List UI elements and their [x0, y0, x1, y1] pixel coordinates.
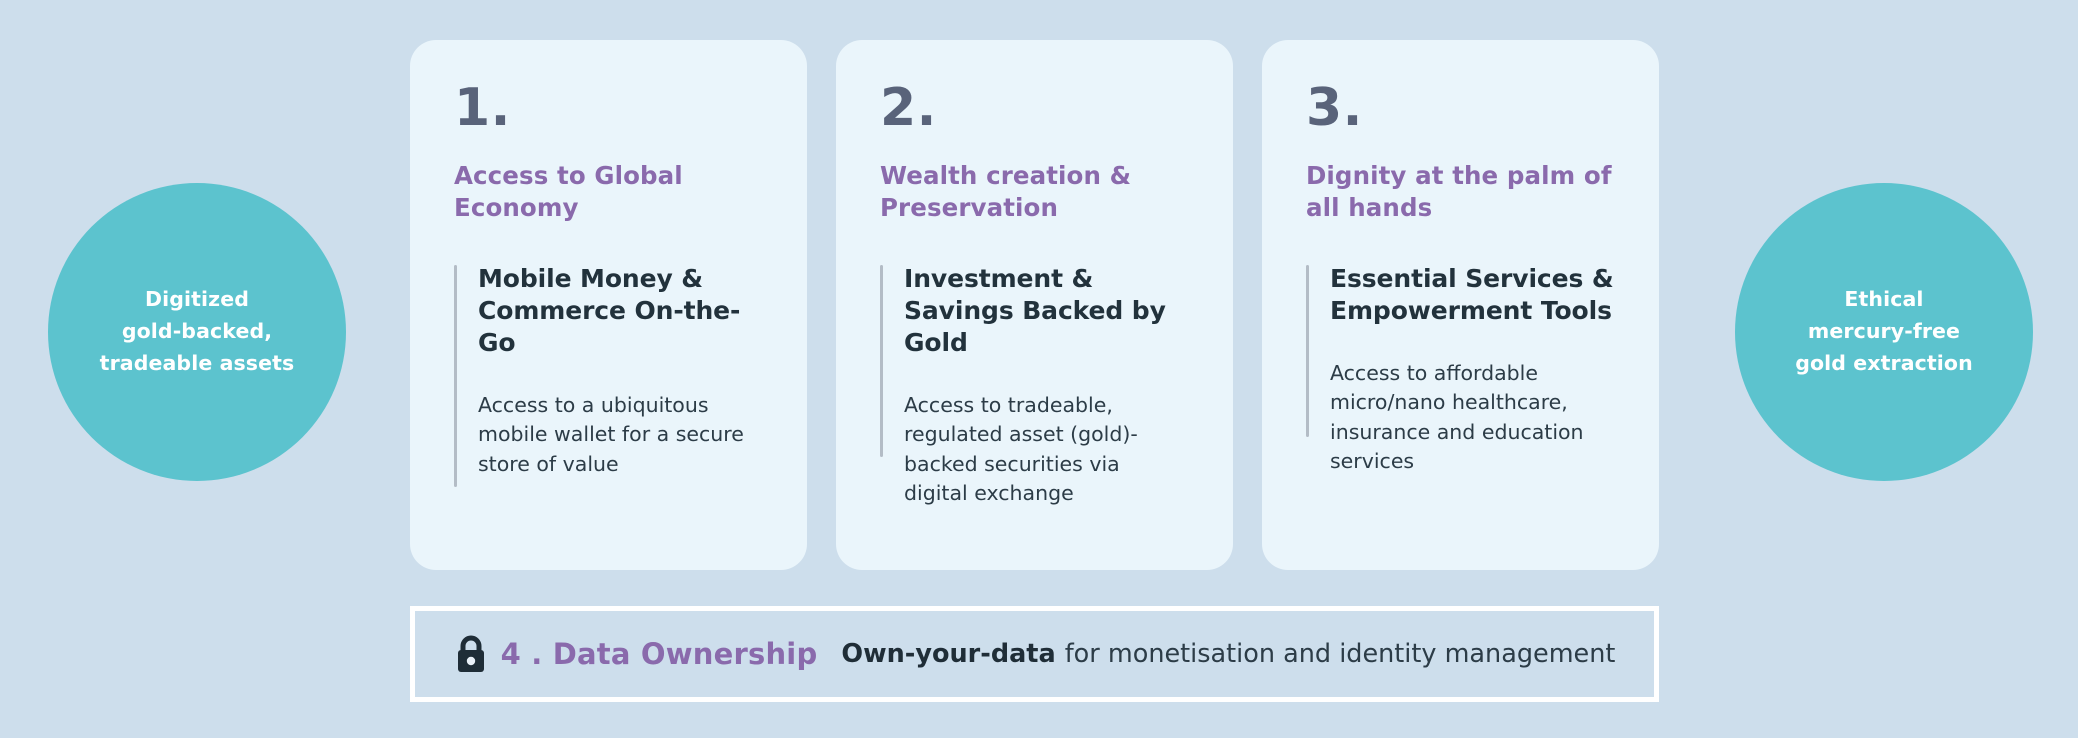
- card-1-accent-rule: [454, 265, 457, 487]
- card-2-number: 2.: [880, 82, 1189, 134]
- card-2-body: Investment & Savings Backed by Gold Acce…: [880, 263, 1189, 509]
- pillar-card-1: 1. Access to Global Economy Mobile Money…: [410, 40, 807, 570]
- data-ownership-banner: 4 . Data Ownership Own-your-data for mon…: [410, 606, 1659, 702]
- card-2-subtitle: Investment & Savings Backed by Gold: [904, 263, 1189, 359]
- left-circle-callout: Digitized gold-backed, tradeable assets: [48, 183, 346, 481]
- card-2-heading: Wealth creation & Preservation: [880, 160, 1189, 225]
- card-2-description: Access to tradeable, regulated asset (go…: [904, 391, 1189, 509]
- card-3-accent-rule: [1306, 265, 1309, 437]
- pillar-card-3: 3. Dignity at the palm of all hands Esse…: [1262, 40, 1659, 570]
- card-1-subtitle: Mobile Money & Commerce On-the-Go: [478, 263, 763, 359]
- left-circle-line-1: Digitized: [100, 284, 295, 316]
- banner-strong-text: Own-your-data: [841, 639, 1055, 669]
- pillar-card-2: 2. Wealth creation & Preservation Invest…: [836, 40, 1233, 570]
- card-3-heading: Dignity at the palm of all hands: [1306, 160, 1615, 225]
- right-circle-line-3: gold extraction: [1795, 348, 1973, 380]
- banner-number-label: 4 . Data Ownership: [501, 637, 818, 671]
- right-circle-line-1: Ethical: [1795, 284, 1973, 316]
- card-1-heading: Access to Global Economy: [454, 160, 763, 225]
- card-3-number: 3.: [1306, 82, 1615, 134]
- infographic-canvas: Digitized gold-backed, tradeable assets …: [0, 0, 2078, 738]
- right-circle-line-2: mercury-free: [1795, 316, 1973, 348]
- card-2-accent-rule: [880, 265, 883, 457]
- right-circle-callout: Ethical mercury-free gold extraction: [1735, 183, 2033, 481]
- card-3-description: Access to affordable micro/nano healthca…: [1330, 359, 1615, 477]
- right-circle-text: Ethical mercury-free gold extraction: [1795, 284, 1973, 379]
- lock-icon: [454, 634, 488, 674]
- left-circle-text: Digitized gold-backed, tradeable assets: [100, 284, 295, 379]
- left-circle-line-2: gold-backed,: [100, 316, 295, 348]
- left-circle-line-3: tradeable assets: [100, 348, 295, 380]
- banner-rest-text: for monetisation and identity management: [1065, 639, 1616, 669]
- card-1-description: Access to a ubiquitous mobile wallet for…: [478, 391, 763, 480]
- card-1-body: Mobile Money & Commerce On-the-Go Access…: [454, 263, 763, 480]
- card-3-body: Essential Services & Empowerment Tools A…: [1306, 263, 1615, 477]
- card-1-number: 1.: [454, 82, 763, 134]
- card-3-subtitle: Essential Services & Empowerment Tools: [1330, 263, 1615, 327]
